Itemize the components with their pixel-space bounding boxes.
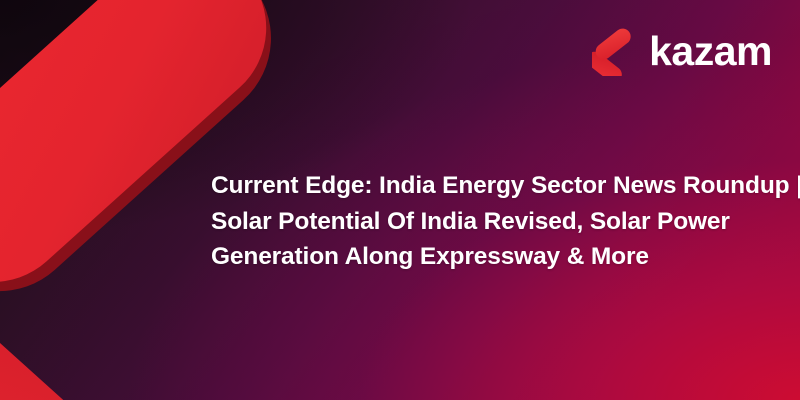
- page-title-line-1: Current Edge: India Energy Sector News R…: [211, 168, 763, 204]
- page-title: Current Edge: India Energy Sector News R…: [211, 168, 763, 275]
- brand-logo[interactable]: kazam: [592, 26, 772, 76]
- page-title-line-2: Solar Potential Of India Revised, Solar …: [211, 204, 763, 240]
- kazam-chevron-logo-icon: [592, 26, 638, 76]
- page-title-line-3: Generation Along Expressway & More: [211, 239, 763, 275]
- article-banner: kazam Current Edge: India Energy Sector …: [0, 0, 800, 400]
- brand-wordmark: kazam: [649, 31, 772, 72]
